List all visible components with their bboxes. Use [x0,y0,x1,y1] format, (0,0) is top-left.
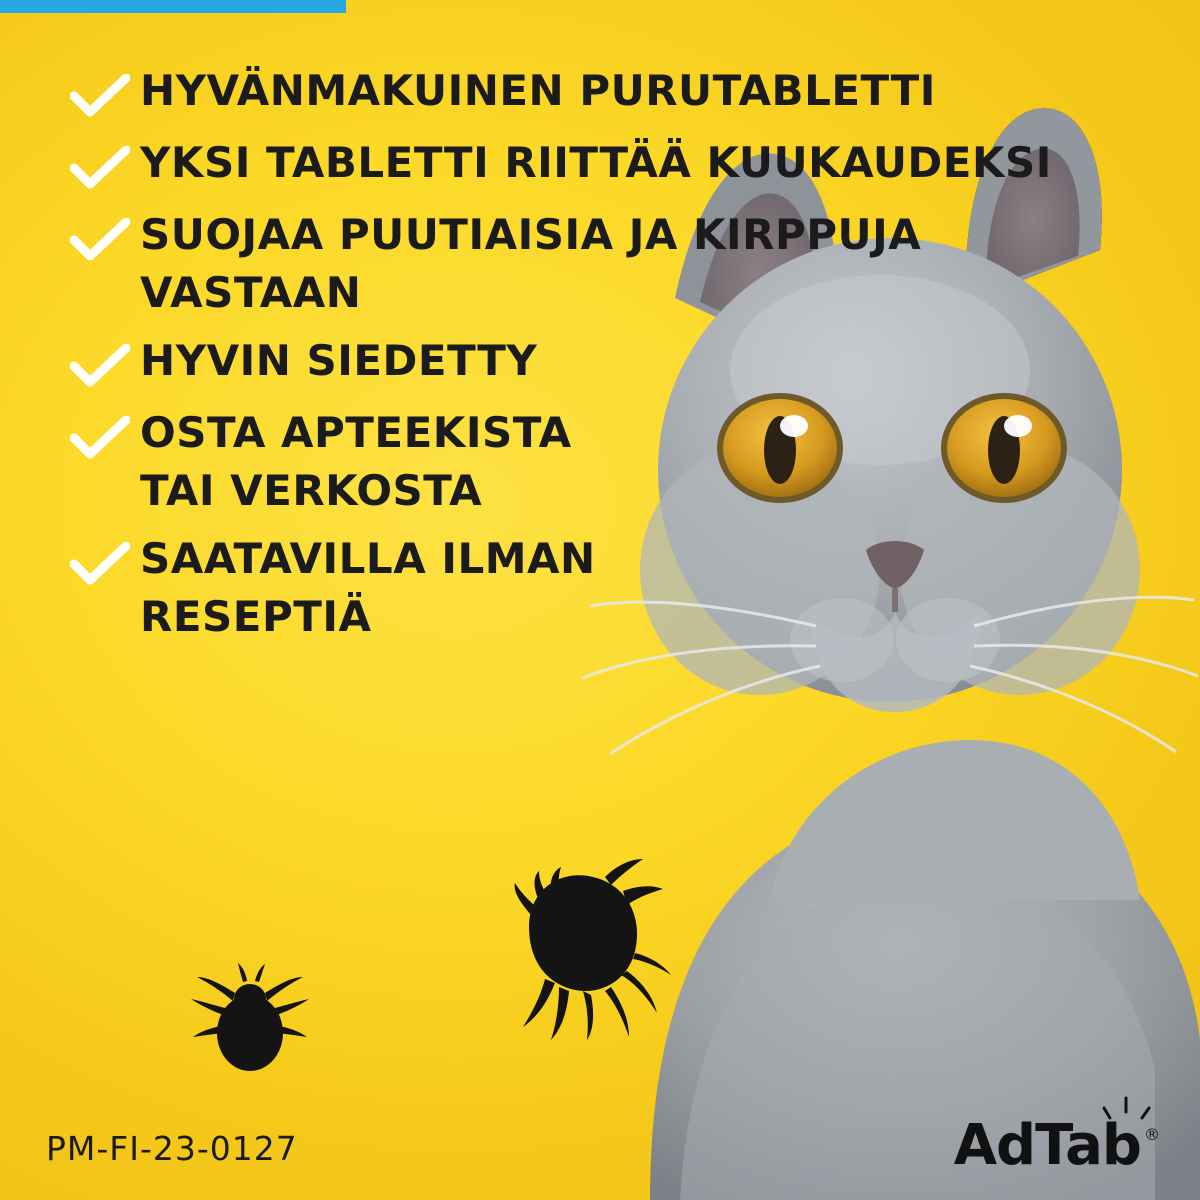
list-item-label: SAATAVILLA ILMAN RESEPTIÄ [140,530,596,646]
list-item-label: YKSI TABLETTI RIITTÄÄ KUUKAUDEKSI [140,134,1052,192]
check-icon [62,206,140,268]
tick-silhouette-icon [185,955,315,1090]
top-accent-bar [0,0,346,13]
list-item-label: HYVÄNMAKUINEN PURUTABLETTI [140,62,936,120]
check-icon [62,134,140,196]
adtab-logo: AdTab ® [954,1118,1160,1174]
list-item-label: OSTA APTEEKISTA TAI VERKOSTA [140,404,572,520]
advertisement-banner: HYVÄNMAKUINEN PURUTABLETTI YKSI TABLETTI… [0,0,1200,1200]
check-icon [62,404,140,466]
list-item: OSTA APTEEKISTA TAI VERKOSTA [62,404,1182,520]
check-icon [62,530,140,592]
list-item: SAATAVILLA ILMAN RESEPTIÄ [62,530,1182,646]
list-item: HYVÄNMAKUINEN PURUTABLETTI [62,62,1182,124]
list-item: YKSI TABLETTI RIITTÄÄ KUUKAUDEKSI [62,134,1182,196]
list-item-label: SUOJAA PUUTIAISIA JA KIRPPUJA VASTAAN [140,206,921,322]
flea-silhouette-icon [495,855,675,1045]
check-icon [62,332,140,394]
list-item-label: HYVIN SIEDETTY [140,332,537,390]
check-icon [62,62,140,124]
list-item: SUOJAA PUUTIAISIA JA KIRPPUJA VASTAAN [62,206,1182,322]
list-item: HYVIN SIEDETTY [62,332,1182,394]
product-code: PM-FI-23-0127 [46,1129,298,1168]
sparkle-icon [1096,1090,1156,1130]
benefit-list: HYVÄNMAKUINEN PURUTABLETTI YKSI TABLETTI… [62,62,1182,656]
